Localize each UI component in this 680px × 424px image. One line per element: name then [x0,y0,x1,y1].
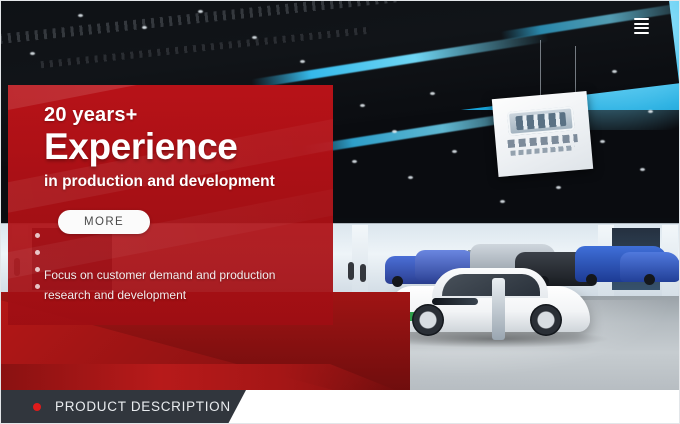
vehicle-wheel [644,274,655,285]
hero-vehicle-wheel [530,304,562,336]
hero-headline: Experience [44,127,324,166]
brand-logo-icon [507,106,575,136]
bullet-dot [35,233,40,238]
ceiling-spotlight [556,186,561,189]
booth-column [352,225,368,299]
ceiling-spotlight [648,110,653,113]
more-button[interactable]: MORE [58,210,150,234]
bullet-dot [35,284,40,289]
hamburger-bar [634,27,649,29]
hero-vehicle-headlight [432,298,478,305]
bullet-dot [35,267,40,272]
hero-vehicle [390,268,590,338]
hamburger-bar [634,32,649,34]
hero-text-block: 20 years+ Experience in production and d… [44,105,324,305]
ceiling-spotlight [452,150,457,153]
sign-suspension-wire [540,40,541,98]
ceiling-spotlight [640,168,645,171]
ceiling-spotlight [408,176,413,179]
ceiling-spotlight [252,36,257,39]
ceiling-spotlight [198,10,203,13]
hero-subhead: in production and development [44,173,324,192]
ceiling-spotlight [142,26,147,29]
hero-paragraph: Focus on customer demand and production … [44,266,304,306]
ceiling-spotlight [392,130,397,133]
visitor-silhouette [348,262,354,280]
bullet-dot [35,250,40,255]
brand-sign [492,91,593,177]
hamburger-menu-icon[interactable] [634,18,649,34]
ceiling-spotlight [30,52,35,55]
ceiling-spotlight [612,70,617,73]
hero-eyebrow: 20 years+ [44,105,324,126]
ceiling-spotlight [352,160,357,163]
hero-vehicle-windshield [442,274,540,296]
slide-banner: 20 years+ Experience in production and d… [0,0,680,424]
hero-red-panel: 20 years+ Experience in production and d… [8,85,333,325]
ceiling-spotlight [600,140,605,143]
hero-vehicle-wheel [412,304,444,336]
ceiling-spotlight [300,60,305,63]
hamburger-bar [634,18,649,20]
ceiling-spotlight [360,104,365,107]
bottom-bar: PRODUCT DESCRIPTION [0,390,680,424]
bullet-dot-list [35,233,40,301]
hamburger-bar [634,23,649,25]
ceiling-spotlight [430,92,435,95]
red-dot-icon [33,403,41,411]
charging-station [492,278,505,340]
visitor-silhouette [360,264,366,282]
ceiling-spotlight [500,200,505,203]
product-description-label: PRODUCT DESCRIPTION [55,399,231,414]
ceiling-spotlight [78,14,83,17]
